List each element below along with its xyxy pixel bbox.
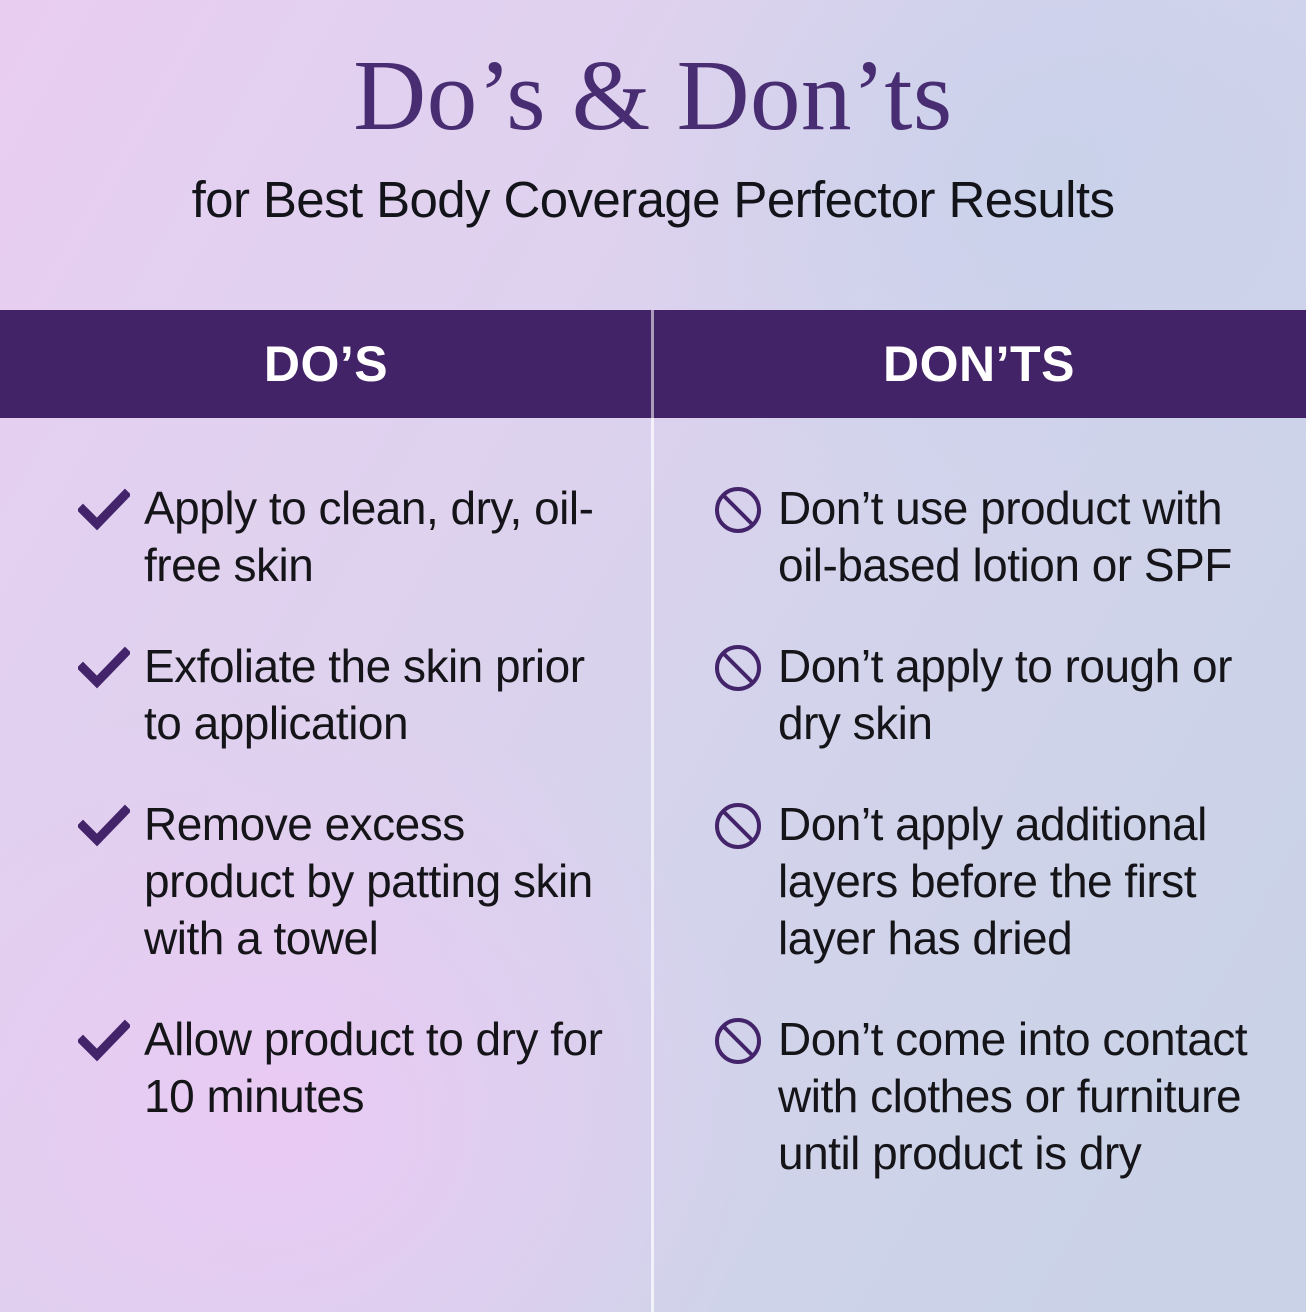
donts-header-cell: DON’TS (652, 310, 1306, 418)
dos-header-cell: DO’S (0, 310, 652, 418)
list-item-text: Remove excess product by patting skin wi… (144, 796, 622, 967)
check-icon (78, 484, 130, 536)
dos-and-donts-infographic: Do’s & Don’ts for Best Body Coverage Per… (0, 0, 1306, 1312)
donts-column: Don’t use product with oil-based lotion … (652, 418, 1306, 1312)
page-title: Do’s & Don’ts (0, 44, 1306, 147)
prohibited-icon (712, 484, 764, 536)
prohibited-icon (712, 642, 764, 694)
header-block: Do’s & Don’ts for Best Body Coverage Per… (0, 0, 1306, 228)
band-vertical-divider (651, 310, 654, 418)
page-subtitle: for Best Body Coverage Perfector Results (0, 171, 1306, 228)
prohibited-icon (712, 1015, 764, 1067)
list-item-text: Don’t come into contact with clothes or … (778, 1011, 1288, 1182)
list-item: Remove excess product by patting skin wi… (78, 796, 622, 967)
list-item: Exfoliate the skin prior to application (78, 638, 622, 752)
list-item-text: Allow product to dry for 10 minutes (144, 1011, 622, 1125)
list-item: Allow product to dry for 10 minutes (78, 1011, 622, 1125)
list-item-text: Don’t use product with oil-based lotion … (778, 480, 1288, 594)
list-item-text: Don’t apply additional layers before the… (778, 796, 1288, 967)
list-item: Apply to clean, dry, oil-free skin (78, 480, 622, 594)
list-item: Don’t apply to rough or dry skin (712, 638, 1288, 752)
check-icon (78, 800, 130, 852)
list-item: Don’t apply additional layers before the… (712, 796, 1288, 967)
check-icon (78, 642, 130, 694)
list-item: Don’t come into contact with clothes or … (712, 1011, 1288, 1182)
column-header-band: DO’S DON’TS (0, 310, 1306, 418)
dos-header-label: DO’S (264, 335, 388, 393)
donts-header-label: DON’TS (883, 335, 1075, 393)
list-item-text: Apply to clean, dry, oil-free skin (144, 480, 622, 594)
prohibited-icon (712, 800, 764, 852)
list-item-text: Exfoliate the skin prior to application (144, 638, 622, 752)
list-item-text: Don’t apply to rough or dry skin (778, 638, 1288, 752)
dos-column: Apply to clean, dry, oil-free skin Exfol… (0, 418, 652, 1312)
list-item: Don’t use product with oil-based lotion … (712, 480, 1288, 594)
check-icon (78, 1015, 130, 1067)
column-vertical-divider (651, 418, 654, 1312)
